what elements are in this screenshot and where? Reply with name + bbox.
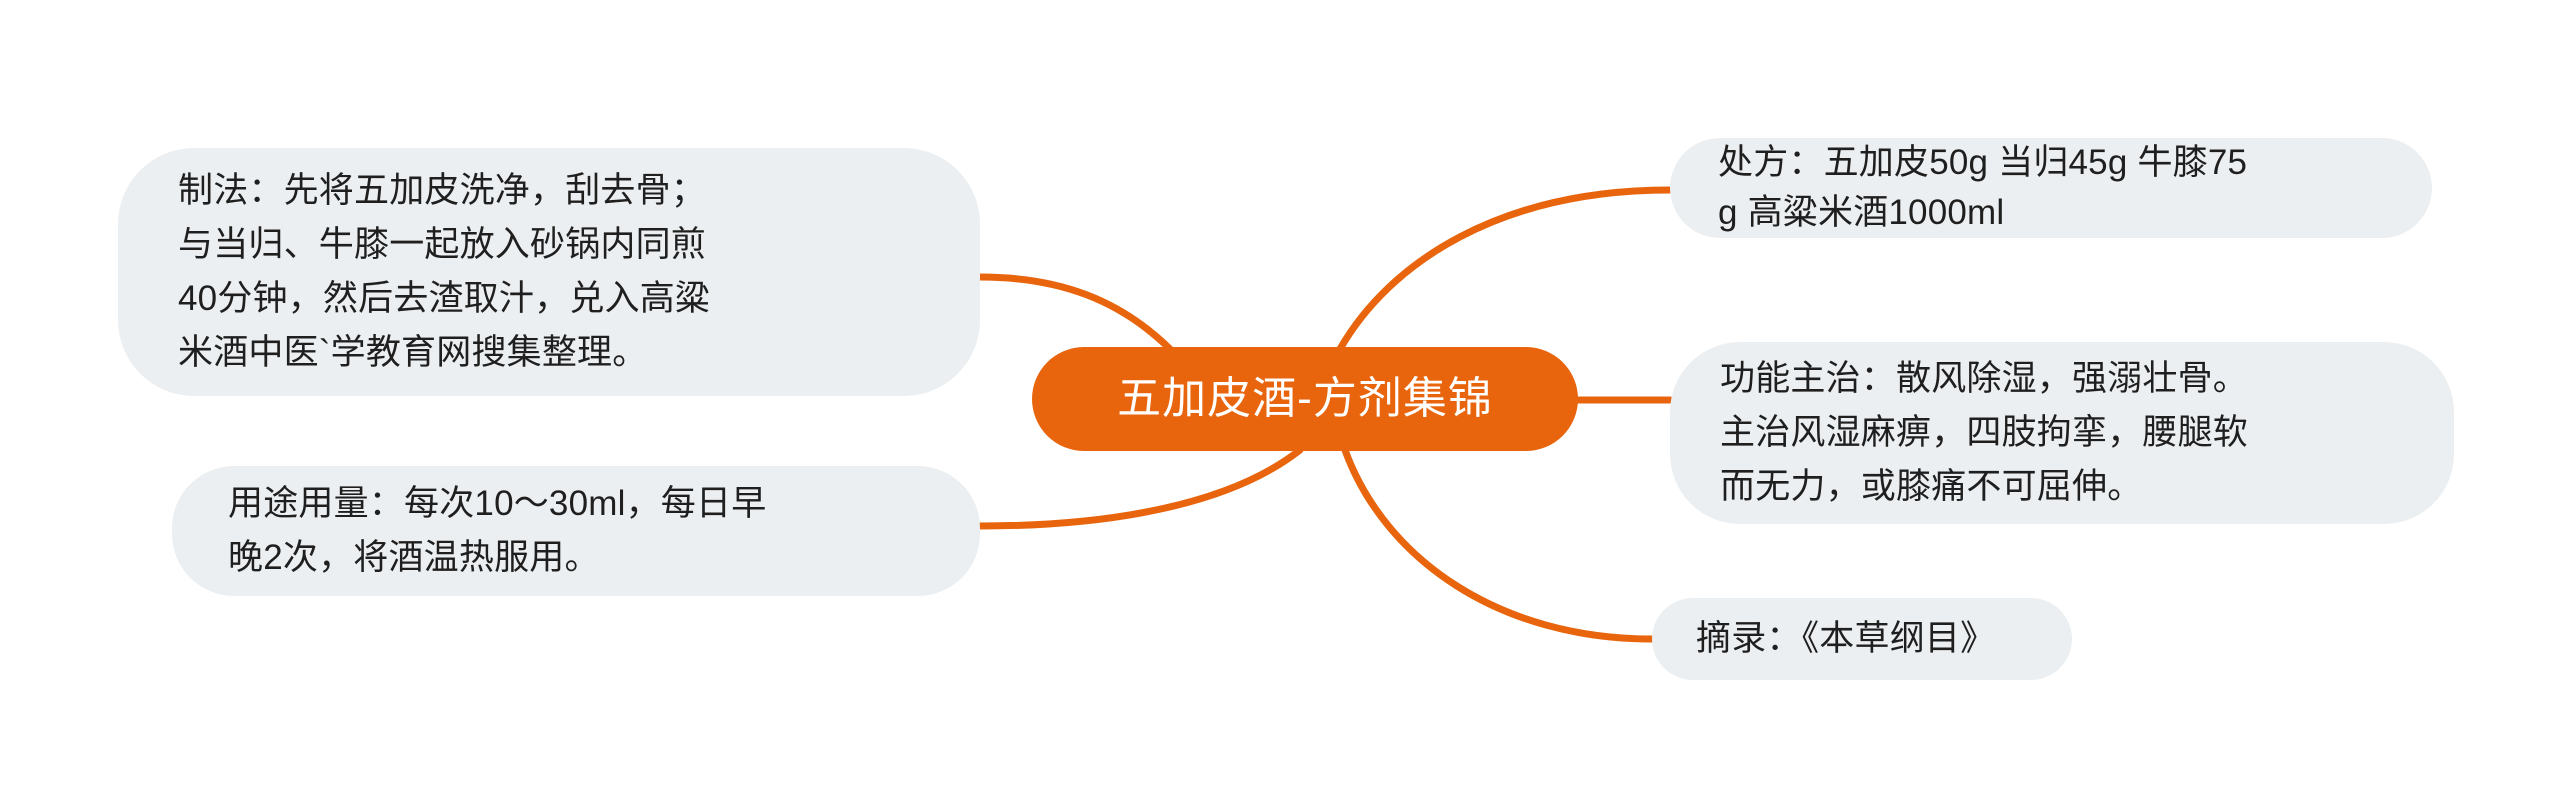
branch-node-dosage-label: 用途用量：每次10～30ml，每日早 晚2次，将酒温热服用。 <box>228 477 928 585</box>
connector-root-to-prescription <box>1340 190 1670 349</box>
branch-node-source[interactable]: 摘录：《本草纲目》 <box>1652 598 2072 680</box>
connector-root-to-dosage <box>980 450 1300 526</box>
branch-node-method-label: 制法：先将五加皮洗净，刮去骨； 与当归、牛膝一起放入砂锅内同煎 40分钟，然后去… <box>178 164 924 380</box>
branch-node-method[interactable]: 制法：先将五加皮洗净，刮去骨； 与当归、牛膝一起放入砂锅内同煎 40分钟，然后去… <box>118 148 980 396</box>
connector-root-to-source <box>1345 450 1652 639</box>
branch-node-source-label: 摘录：《本草纲目》 <box>1696 616 2036 662</box>
root-node-label: 五加皮酒-方剂集锦 <box>1032 373 1578 425</box>
root-node[interactable]: 五加皮酒-方剂集锦 <box>1032 347 1578 451</box>
branch-node-prescription-label: 处方：五加皮50g 当归45g 牛膝75 g 高粱米酒1000ml <box>1718 138 2392 238</box>
branch-node-prescription[interactable]: 处方：五加皮50g 当归45g 牛膝75 g 高粱米酒1000ml <box>1670 138 2432 238</box>
mindmap-canvas: 五加皮酒-方剂集锦 制法：先将五加皮洗净，刮去骨； 与当归、牛膝一起放入砂锅内同… <box>0 0 2560 810</box>
branch-node-indications-label: 功能主治：散风除湿，强溺壮骨。 主治风湿麻痹，四肢拘挛，腰腿软 而无力，或膝痛不… <box>1720 352 2414 514</box>
connector-root-to-method <box>980 277 1170 349</box>
branch-node-dosage[interactable]: 用途用量：每次10～30ml，每日早 晚2次，将酒温热服用。 <box>172 466 980 596</box>
branch-node-indications[interactable]: 功能主治：散风除湿，强溺壮骨。 主治风湿麻痹，四肢拘挛，腰腿软 而无力，或膝痛不… <box>1670 342 2454 524</box>
